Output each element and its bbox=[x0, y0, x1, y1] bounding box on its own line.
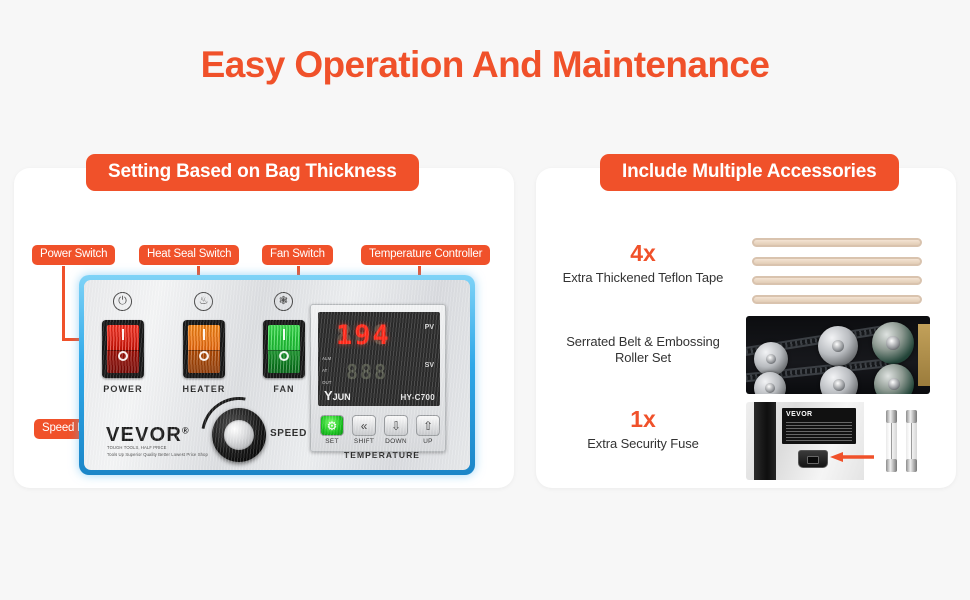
controller-set-label: SET bbox=[315, 438, 349, 445]
fuse-wire bbox=[891, 423, 892, 459]
vevor-plate-label: VEVOR bbox=[786, 411, 813, 418]
controller-down-button[interactable]: ⇩ bbox=[384, 415, 408, 436]
right-card-header: Include Multiple Accessories bbox=[600, 154, 899, 191]
sv-value: 888 bbox=[346, 360, 388, 384]
controller-up-label: UP bbox=[411, 438, 445, 445]
accessory-text-teflon-tape: 4x Extra Thickened Teflon Tape bbox=[528, 242, 758, 286]
tape-loop bbox=[752, 257, 922, 266]
heater-switch-label: HEATER bbox=[169, 384, 239, 394]
power-inlet-socket bbox=[798, 450, 828, 468]
controller-brand-initial: Y bbox=[324, 388, 333, 403]
double-chevron-up-icon: ⇧ bbox=[423, 419, 433, 433]
control-panel-face: ⏻ ♨ ❃ POWER HEATER FAN bbox=[84, 280, 470, 470]
leader-power-vert bbox=[62, 266, 65, 340]
power-switch-on-mark bbox=[122, 329, 124, 340]
controller-model: HY-C700 bbox=[400, 393, 435, 402]
controller-shift-label: SHIFT bbox=[347, 438, 381, 445]
tape-loop bbox=[752, 276, 922, 285]
rating-plate-text-lines bbox=[786, 422, 852, 442]
machine-rear-panel: VEVOR bbox=[746, 402, 864, 480]
serrated-belt-roller-photo bbox=[746, 316, 930, 394]
gear-icon: ⚙ bbox=[327, 419, 338, 433]
page-title: Easy Operation And Maintenance bbox=[0, 44, 970, 86]
controller-brand-rest: JUN bbox=[333, 392, 351, 402]
callout-heat-seal-switch: Heat Seal Switch bbox=[139, 245, 239, 265]
glass-fuse bbox=[886, 410, 897, 472]
accessory-row-teflon-tape: 4x Extra Thickened Teflon Tape bbox=[536, 230, 956, 314]
roller-pulley bbox=[754, 342, 788, 376]
temperature-controller[interactable]: 888 194 PV 888 SV ALM AT OUT YJUN HY-C70… bbox=[310, 304, 446, 452]
embossing-roller bbox=[874, 364, 914, 394]
embossing-roller bbox=[872, 322, 914, 364]
tape-loop bbox=[752, 238, 922, 247]
fuse-wire bbox=[911, 423, 912, 459]
vevor-registered-mark: ® bbox=[182, 425, 190, 435]
fan-switch[interactable] bbox=[263, 320, 305, 378]
controller-shift-button[interactable]: « bbox=[352, 415, 376, 436]
double-chevron-down-icon: ⇩ bbox=[391, 419, 401, 433]
heater-switch-on-mark bbox=[203, 329, 205, 340]
speed-knob[interactable] bbox=[212, 408, 266, 462]
callout-temperature-controller: Temperature Controller bbox=[361, 245, 490, 265]
right-feature-card: Include Multiple Accessories 4x Extra Th… bbox=[536, 168, 956, 488]
indicator-at: AT bbox=[322, 368, 327, 373]
vevor-wordmark: VEVOR bbox=[106, 424, 182, 446]
glass-fuse bbox=[906, 410, 917, 472]
page-root: Easy Operation And Maintenance Setting B… bbox=[0, 0, 970, 600]
vevor-logo: VEVOR® bbox=[106, 424, 190, 447]
indicator-alm: ALM bbox=[322, 356, 331, 361]
accessory-qty-fuse: 1 bbox=[630, 408, 643, 431]
controller-up-button[interactable]: ⇧ bbox=[416, 415, 440, 436]
indicator-out: OUT bbox=[322, 380, 332, 385]
accessory-row-belt-roller: Serrated Belt & Embossing Roller Set bbox=[536, 316, 956, 400]
security-fuse-photo: VEVOR bbox=[746, 402, 930, 480]
pointer-arrow-icon bbox=[830, 452, 874, 462]
accessory-name-teflon: Extra Thickened Teflon Tape bbox=[528, 270, 758, 286]
accessory-qty-wrap-teflon: 4x bbox=[528, 242, 758, 266]
double-chevron-left-icon: « bbox=[361, 419, 368, 433]
fan-switch-label: FAN bbox=[249, 384, 319, 394]
teflon-tape-photo bbox=[746, 230, 930, 308]
tape-loop bbox=[752, 295, 922, 304]
heater-switch-off-mark bbox=[199, 351, 209, 361]
machine-rating-plate: VEVOR bbox=[782, 408, 856, 444]
temperature-section-label: TEMPERATURE bbox=[322, 450, 442, 460]
callout-power-switch: Power Switch bbox=[32, 245, 115, 265]
accessory-name-fuse: Extra Security Fuse bbox=[528, 436, 758, 452]
fan-icon: ❃ bbox=[274, 292, 293, 311]
accessory-text-belt-roller: Serrated Belt & Embossing Roller Set bbox=[528, 334, 758, 367]
accessory-qty-x-fuse: x bbox=[643, 408, 656, 431]
roller-pulley bbox=[818, 326, 858, 366]
accessory-text-security-fuse: 1x Extra Security Fuse bbox=[528, 408, 758, 452]
accessory-qty-teflon: 4 bbox=[630, 242, 643, 265]
fan-switch-off-mark bbox=[279, 351, 289, 361]
power-switch-off-mark bbox=[118, 351, 128, 361]
accessory-qty-x-teflon: x bbox=[643, 242, 656, 265]
accessory-name-belt-roller: Serrated Belt & Embossing Roller Set bbox=[528, 334, 758, 367]
controller-down-label: DOWN bbox=[379, 438, 413, 445]
power-switch-label: POWER bbox=[88, 384, 158, 394]
brass-bracket bbox=[918, 324, 930, 386]
sv-unit-label: SV bbox=[425, 362, 434, 369]
pv-value: 194 bbox=[336, 320, 391, 351]
heater-switch[interactable] bbox=[183, 320, 225, 378]
pv-unit-label: PV bbox=[425, 324, 434, 331]
heat-icon: ♨ bbox=[194, 292, 213, 311]
accessory-row-security-fuse: 1x Extra Security Fuse VEVOR bbox=[536, 402, 956, 486]
power-switch[interactable] bbox=[102, 320, 144, 378]
control-panel-photo: ⏻ ♨ ❃ POWER HEATER FAN bbox=[79, 275, 475, 475]
controller-set-button[interactable]: ⚙ bbox=[320, 415, 344, 436]
power-icon: ⏻ bbox=[113, 292, 132, 311]
fan-switch-on-mark bbox=[283, 329, 285, 340]
callout-fan-switch: Fan Switch bbox=[262, 245, 333, 265]
controller-screen: 888 194 PV 888 SV ALM AT OUT YJUN HY-C70… bbox=[318, 312, 440, 406]
vevor-tagline-1: TOUGH TOOLS, HALF PRICE bbox=[107, 445, 167, 450]
machine-side-bracket bbox=[754, 402, 776, 480]
left-card-header: Setting Based on Bag Thickness bbox=[86, 154, 419, 191]
controller-brand: YJUN bbox=[324, 388, 351, 403]
accessory-qty-wrap-fuse: 1x bbox=[528, 408, 758, 432]
vevor-tagline-2: Tools Up Superior Quality Better Lowest … bbox=[107, 452, 208, 457]
speed-knob-label: SPEED bbox=[270, 428, 307, 439]
